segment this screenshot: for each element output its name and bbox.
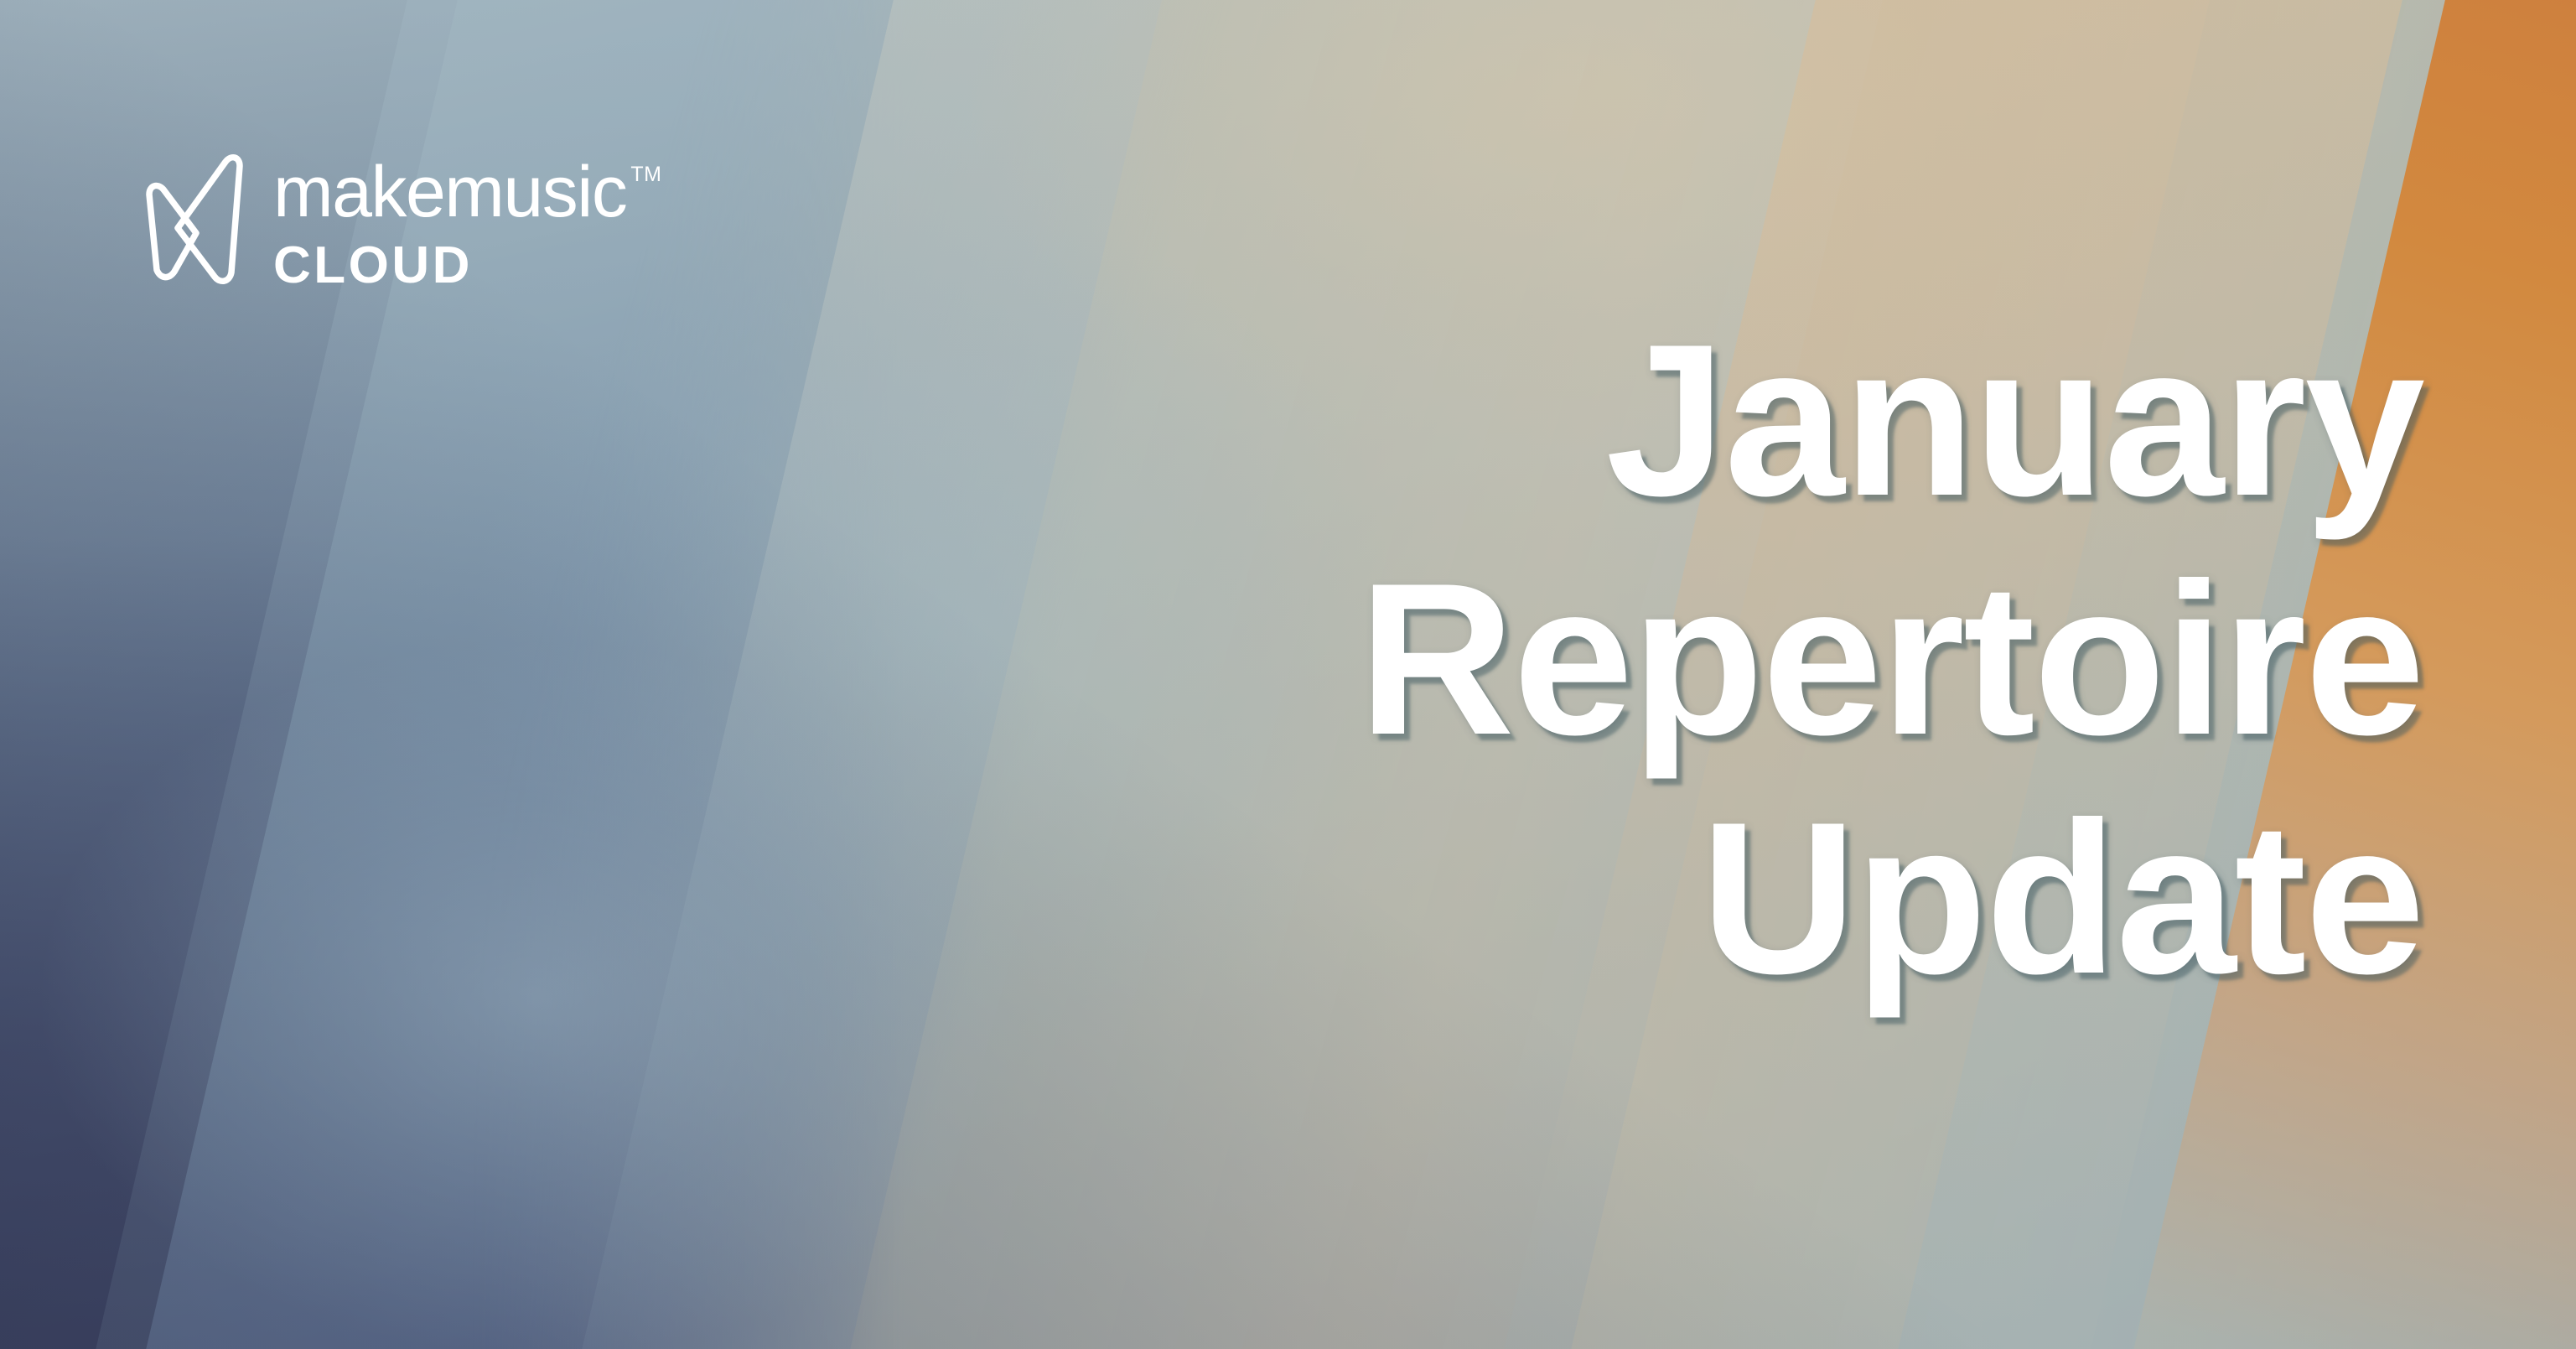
page-title: January Repertoire Update: [663, 300, 2423, 1017]
makemusic-m-mark-icon: [141, 146, 248, 290]
headline-line-1: January: [663, 300, 2423, 539]
wordmark-cloud: CLOUD: [273, 240, 661, 292]
promotional-banner: makemusic TM CLOUD January Repertoire Up…: [0, 0, 2576, 1349]
headline-line-3: Update: [663, 778, 2423, 1017]
wordmark-makemusic-text: makemusic: [273, 156, 626, 228]
makemusic-cloud-logo[interactable]: makemusic TM CLOUD: [141, 141, 661, 292]
headline-line-2: Repertoire: [663, 539, 2423, 778]
wordmark-makemusic: makemusic TM: [273, 156, 661, 228]
trademark-symbol: TM: [630, 164, 661, 185]
logo-wordmark: makemusic TM CLOUD: [273, 141, 661, 292]
